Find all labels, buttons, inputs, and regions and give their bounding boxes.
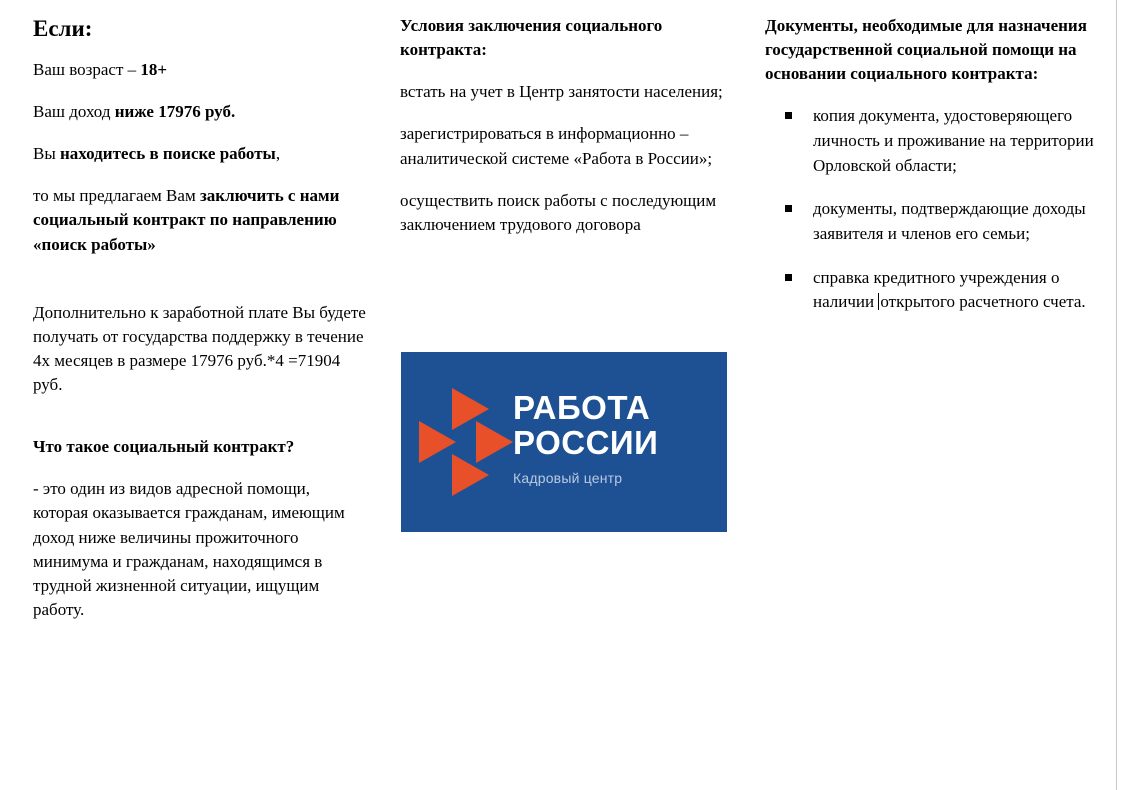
triangle-left-icon	[419, 421, 456, 463]
criteria-age-value: 18+	[140, 60, 167, 79]
logo-subtitle: Кадровый центр	[513, 470, 658, 486]
documents-list: копия документа, удостоверяющего личност…	[765, 104, 1095, 314]
logo-title-line-1: РАБОТА	[513, 390, 658, 425]
document-item-text: копия документа, удостоверяющего личност…	[813, 106, 1094, 174]
rabota-rossii-logo-image: РАБОТА РОССИИ Кадровый центр	[401, 352, 727, 532]
right-column: Документы, необходимые для назначения го…	[765, 14, 1095, 334]
left-column-heading: Если:	[33, 14, 368, 44]
condition-item-1: встать на учет в Центр занятости населен…	[400, 80, 730, 104]
list-item: документы, подтверждающие доходы заявите…	[765, 197, 1095, 246]
slide-canvas: Если: Ваш возраст – 18+ Ваш доход ниже 1…	[0, 0, 1122, 790]
slide-right-edge-rule	[1116, 0, 1117, 790]
logo-title-line-2: РОССИИ	[513, 425, 658, 460]
logo-wordmark: РАБОТА РОССИИ Кадровый центр	[513, 390, 658, 486]
middle-column: Условия заключения социального контракта…	[400, 14, 730, 255]
left-column: Если: Ваш возраст – 18+ Ваш доход ниже 1…	[33, 14, 368, 640]
definition-question-heading: Что такое социальный контракт?	[33, 435, 368, 459]
criteria-income: Ваш доход ниже 17976 руб.	[33, 100, 368, 124]
criteria-job-search-prefix: Вы	[33, 144, 60, 163]
documents-heading: Документы, необходимые для назначения го…	[765, 14, 1095, 86]
criteria-income-prefix: Ваш доход	[33, 102, 115, 121]
left-column-spacer-2	[33, 415, 368, 435]
criteria-age-prefix: Ваш возраст –	[33, 60, 140, 79]
payment-details: Дополнительно к заработной плате Вы буде…	[33, 301, 368, 398]
criteria-job-search: Вы находитесь в поиске работы,	[33, 142, 368, 166]
condition-item-3: осуществить поиск работы с последующим з…	[400, 189, 730, 237]
list-item[interactable]: справка кредитного учреждения о наличии …	[765, 266, 1095, 315]
criteria-job-search-suffix: ,	[276, 144, 280, 163]
conditions-heading: Условия заключения социального контракта…	[400, 14, 730, 62]
definition-text: - это один из видов адресной помощи, кот…	[33, 477, 368, 622]
left-column-spacer-1	[33, 275, 368, 301]
rabota-rossii-mark-icon	[419, 388, 523, 496]
offer-statement: то мы предлагаем Вам заключить с нами со…	[33, 184, 368, 256]
list-item: копия документа, удостоверяющего личност…	[765, 104, 1095, 178]
condition-item-2: зарегистрироваться в информационно – ана…	[400, 122, 730, 170]
triangle-bottom-icon	[452, 454, 489, 496]
square-bullet-icon	[785, 274, 792, 281]
criteria-age: Ваш возраст – 18+	[33, 58, 368, 82]
document-item-text-after-caret: открытого расчетного счета.	[880, 292, 1085, 311]
square-bullet-icon	[785, 112, 792, 119]
criteria-job-search-value: находитесь в поиске работы	[60, 144, 276, 163]
criteria-income-value: ниже 17976 руб.	[115, 102, 236, 121]
square-bullet-icon	[785, 205, 792, 212]
offer-statement-prefix: то мы предлагаем Вам	[33, 186, 200, 205]
document-item-text: документы, подтверждающие доходы заявите…	[813, 199, 1086, 243]
